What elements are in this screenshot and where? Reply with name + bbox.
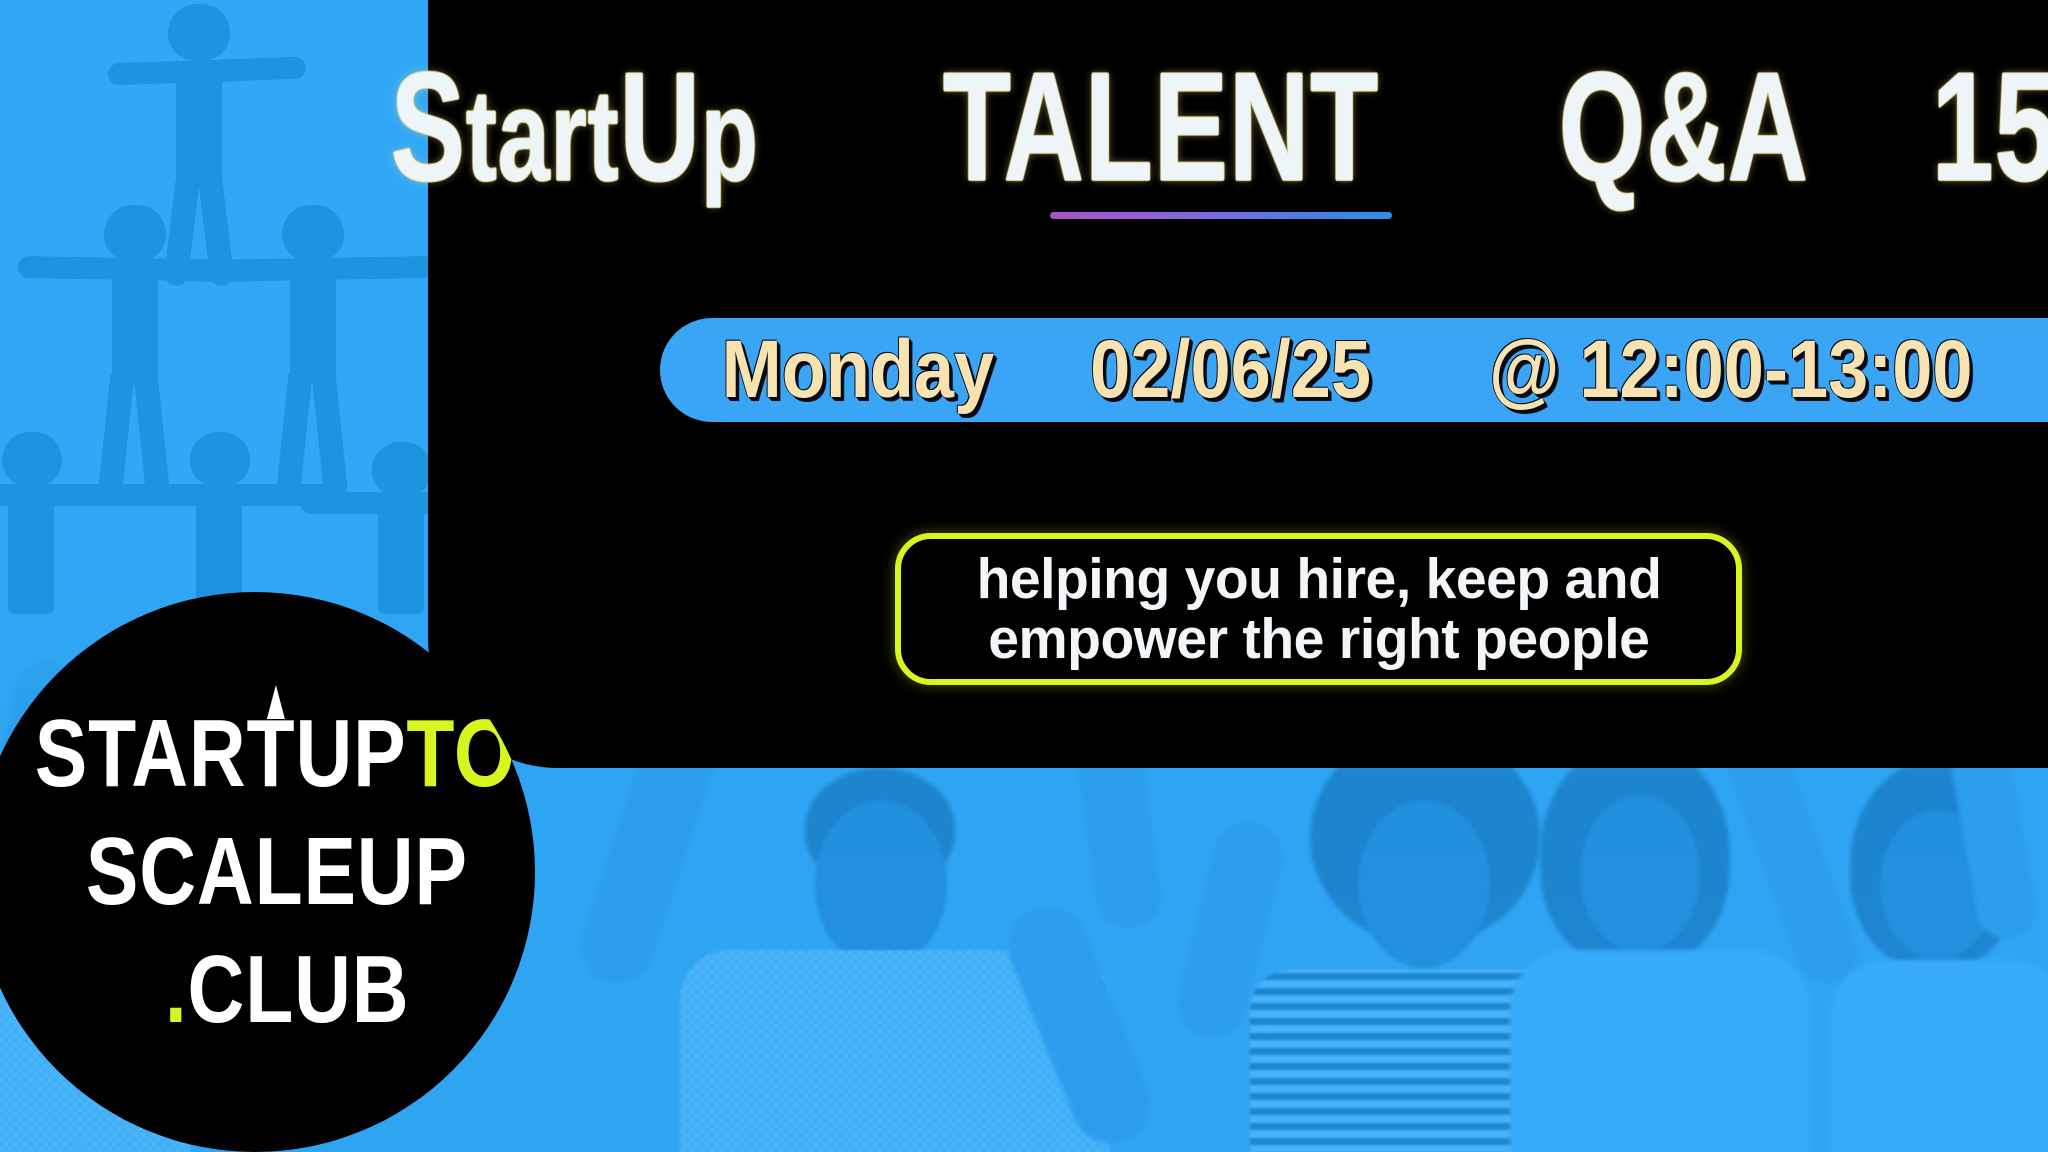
title-startup-p: p xyxy=(701,62,759,208)
event-time: @ 12:00-13:00 xyxy=(1489,329,1973,411)
event-day: Monday xyxy=(721,329,994,411)
poster-title: StartUp TALENT Q&A 156 xyxy=(428,14,2048,196)
tagline-line-2: empower the right people xyxy=(988,609,1649,669)
startuptoscaleup-logo[interactable]: STARTUPTO SCALEUP .CLUB xyxy=(0,592,535,1152)
title-word-startup: StartUp xyxy=(391,57,759,197)
title-episode-number: 156 xyxy=(1932,57,2048,197)
event-date: 02/06/25 xyxy=(1090,329,1371,411)
date-time-banner: Monday 02/06/25 @ 12:00-13:00 xyxy=(660,318,2048,422)
title-startup-u: U xyxy=(619,40,700,213)
logo-line-3: .CLUB xyxy=(165,942,410,1038)
logo-startup-text: STARTUP xyxy=(34,700,406,807)
rocket-tip-icon xyxy=(266,685,284,719)
logo-to-text: TO xyxy=(406,700,516,807)
tagline-box: helping you hire, keep and empower the r… xyxy=(895,533,1742,685)
logo-line-1: STARTUPTO xyxy=(34,706,515,802)
title-word-talent: TALENT xyxy=(943,57,1379,197)
title-word-qa: Q&A xyxy=(1559,57,1809,197)
logo-line-2: SCALEUP xyxy=(86,824,468,920)
logo-club-text: CLUB xyxy=(187,936,409,1043)
tagline-line-1: helping you hire, keep and xyxy=(976,549,1661,609)
title-startup-cap: S xyxy=(391,40,466,213)
title-startup-rest: tart xyxy=(466,62,620,208)
talent-gradient-underline xyxy=(1050,212,1392,219)
poster-canvas: StartUp TALENT Q&A 156 Monday 02/06/25 @… xyxy=(0,0,2048,1152)
logo-dot: . xyxy=(165,936,188,1043)
